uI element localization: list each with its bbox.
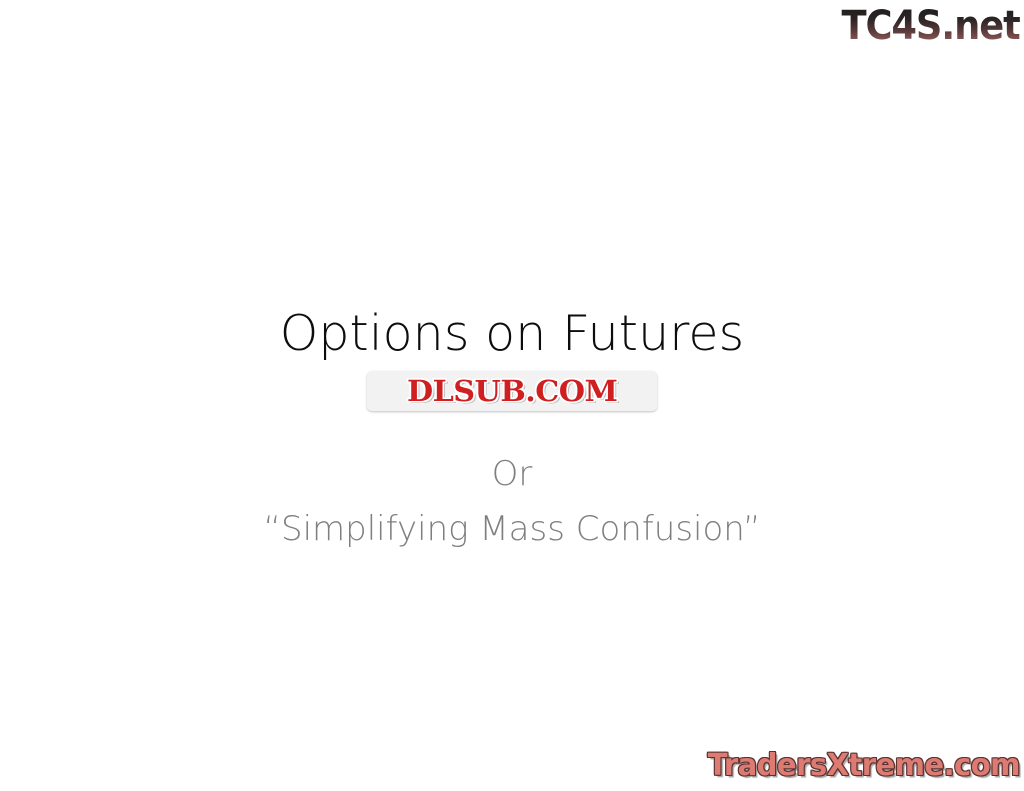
slide-subtitle: Or “Simplifying Mass Confusion” xyxy=(0,452,1024,552)
slide-title-text: Options on Futures xyxy=(280,305,745,363)
presentation-slide: TC4S.net Options on Futures DLSUB.COM Or… xyxy=(0,0,1024,791)
dlsub-watermark[interactable]: DLSUB.COM xyxy=(367,371,657,411)
tc4s-logo-text: TC4S.net xyxy=(842,4,1020,48)
slide-subtitle-line-1: Or xyxy=(0,452,1024,497)
slide-title: Options on Futures xyxy=(0,305,1024,363)
dlsub-watermark-text: DLSUB.COM xyxy=(407,376,617,407)
tradersxtreme-logo[interactable]: TradersXtreme.com xyxy=(700,744,1024,788)
tc4s-logo[interactable]: TC4S.net xyxy=(828,2,1020,50)
slide-subtitle-line-2: “Simplifying Mass Confusion” xyxy=(0,507,1024,552)
tradersxtreme-logo-text: TradersXtreme.com xyxy=(708,749,1024,783)
